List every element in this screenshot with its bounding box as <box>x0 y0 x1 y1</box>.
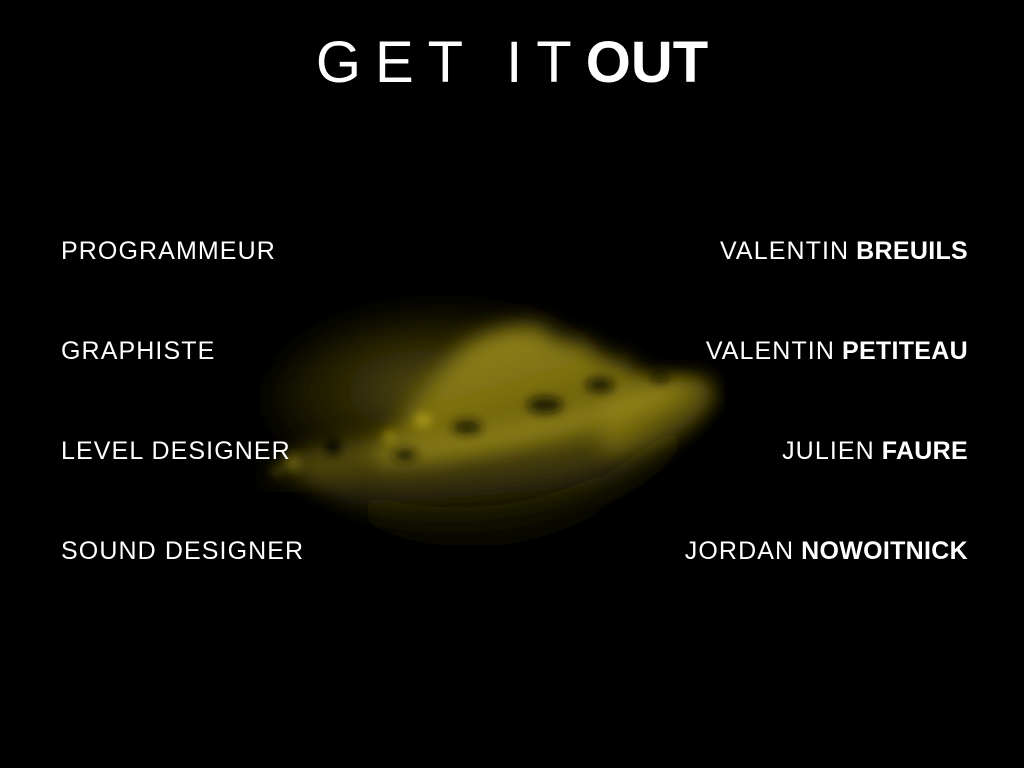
first-name: JULIEN <box>782 437 875 465</box>
credit-row-programmeur: PROGRAMMEUR VALENTIN BREUILS <box>61 236 968 336</box>
person-name-level-designer: JULIEN FAURE <box>782 436 968 466</box>
last-name: FAURE <box>882 437 968 465</box>
role-label-graphiste: GRAPHISTE <box>61 336 215 366</box>
credits-list: PROGRAMMEUR VALENTIN BREUILS GRAPHISTE V… <box>61 236 968 636</box>
credit-row-level-designer: LEVEL DESIGNER JULIEN FAURE <box>61 436 968 536</box>
role-label-programmeur: PROGRAMMEUR <box>61 236 276 266</box>
role-label-level-designer: LEVEL DESIGNER <box>61 436 291 466</box>
person-name-graphiste: VALENTIN PETITEAU <box>706 336 968 366</box>
role-label-sound-designer: SOUND DESIGNER <box>61 536 304 566</box>
person-name-sound-designer: JORDAN NOWOITNICK <box>685 536 968 566</box>
title-bold-part: OUT <box>586 30 708 95</box>
page-title: GET ITOUT <box>0 34 1024 92</box>
first-name: VALENTIN <box>706 337 835 365</box>
credit-row-graphiste: GRAPHISTE VALENTIN PETITEAU <box>61 336 968 436</box>
person-name-programmeur: VALENTIN BREUILS <box>720 236 968 266</box>
credits-screen: GET ITOUT <box>0 0 1024 768</box>
last-name: PETITEAU <box>842 337 968 365</box>
first-name: JORDAN <box>685 537 794 565</box>
last-name: NOWOITNICK <box>801 537 968 565</box>
first-name: VALENTIN <box>720 237 849 265</box>
last-name: BREUILS <box>856 237 968 265</box>
title-thin-part: GET IT <box>316 30 586 95</box>
credit-row-sound-designer: SOUND DESIGNER JORDAN NOWOITNICK <box>61 536 968 636</box>
